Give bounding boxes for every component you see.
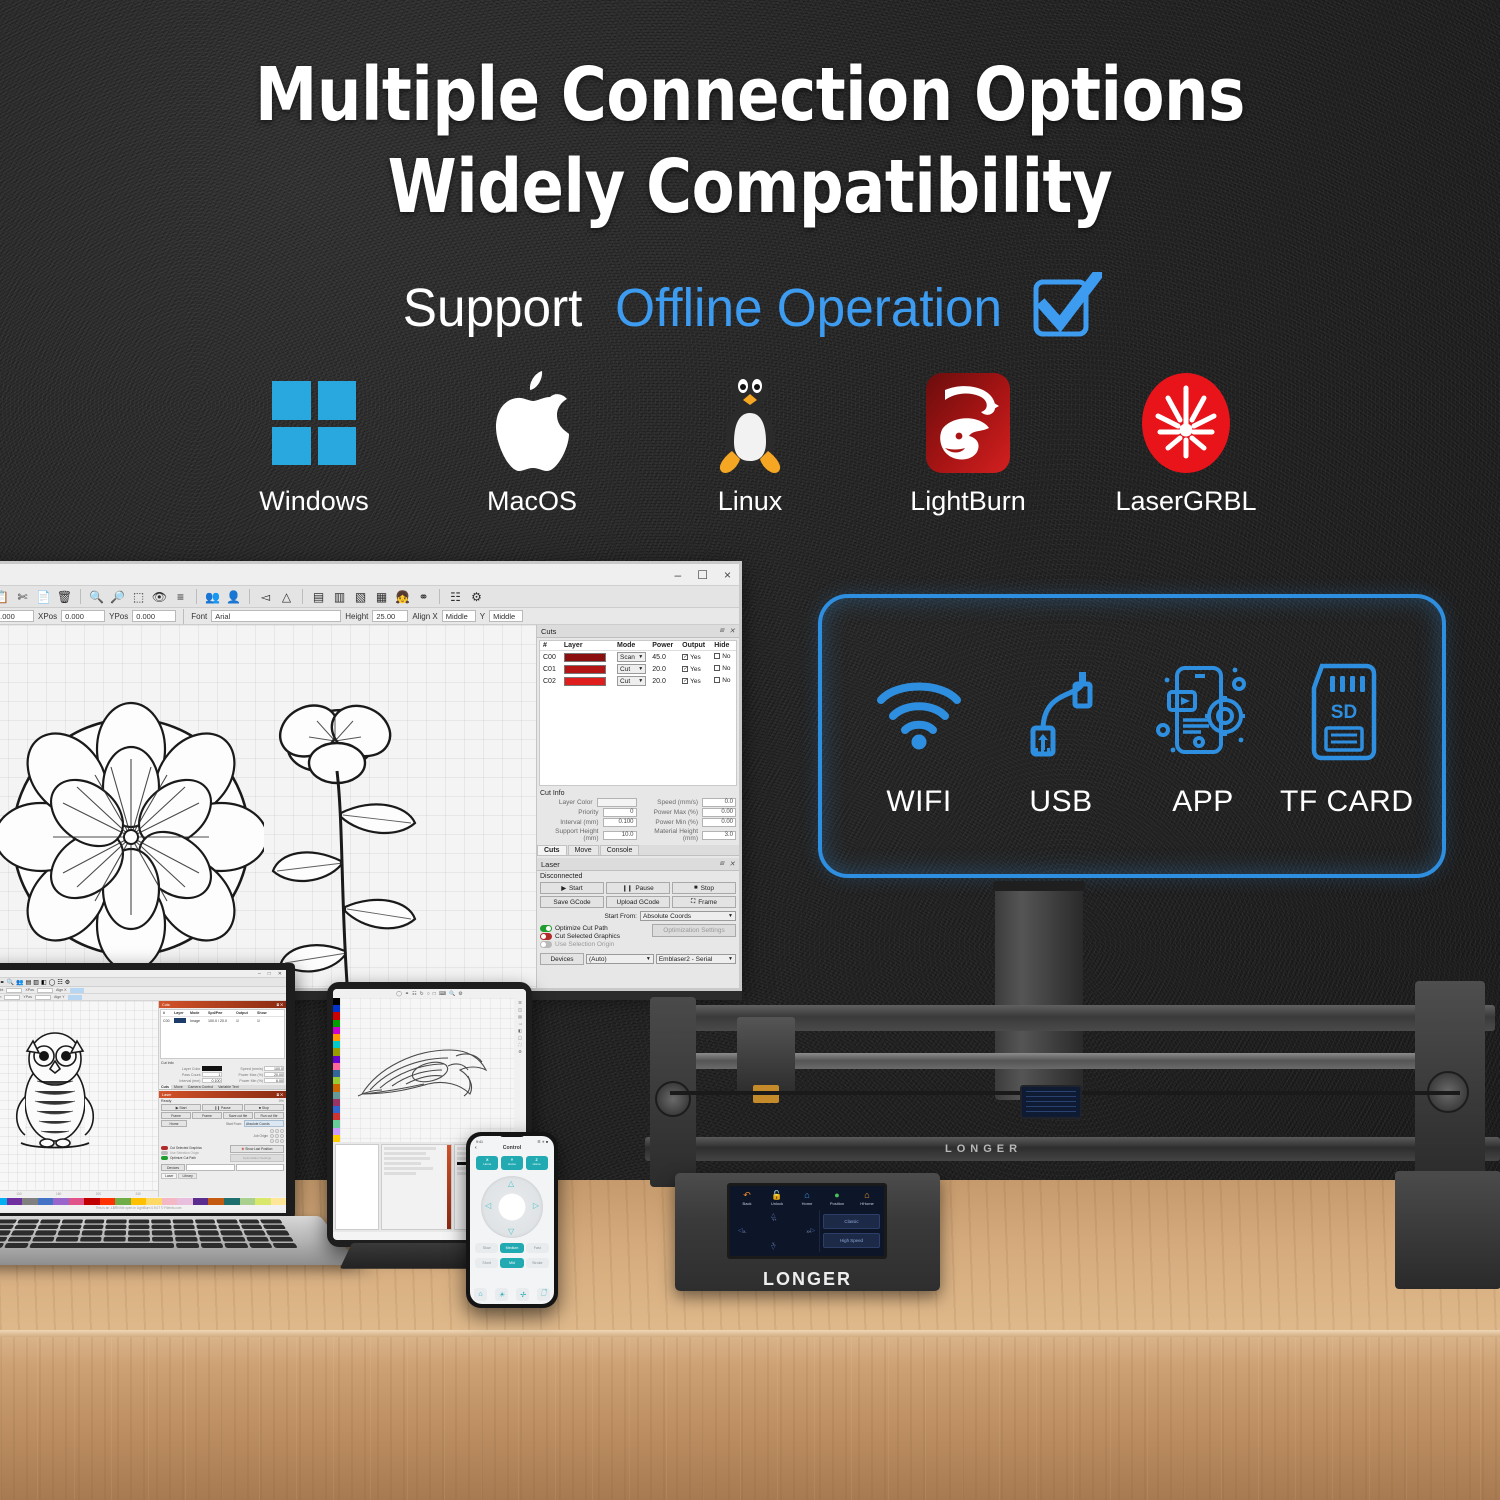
- compat-label-macos: MacOS: [452, 486, 612, 517]
- unlock-icon: 🔓: [763, 1191, 791, 1200]
- node-edit-icon[interactable]: ⚭: [405, 991, 409, 997]
- axis-home-z-button[interactable]: ZHome: [526, 1156, 548, 1170]
- pass-count-input[interactable]: 1: [202, 1072, 222, 1077]
- location-pin-icon: ●: [823, 1191, 851, 1200]
- tablet-cuts-panel[interactable]: [381, 1144, 452, 1230]
- touch-icon-hhome[interactable]: ⌂ HHome: [853, 1191, 881, 1206]
- ci-label: Power Min (%): [640, 819, 699, 826]
- table-row[interactable]: C00 Image 100.0 / 20.0 ☑ ☑: [161, 1017, 284, 1024]
- subheadline-prefix: Support: [403, 277, 583, 339]
- laser-panel-header: Laser ⧈✕: [537, 858, 739, 871]
- square-icon[interactable]: □: [433, 991, 436, 997]
- laptop-bottom-tabs[interactable]: Laser Library: [161, 1173, 284, 1179]
- table-row[interactable]: C02 Cut▼ 20.0 ✓Yes No: [540, 675, 736, 687]
- flip-vertical-icon[interactable]: △: [278, 588, 295, 605]
- ci-label: Layer Color: [540, 799, 593, 806]
- toolbar[interactable]: 📋 ✄ 📄 🗑 🔍 🔎 ⬚ 👁 ≡ 👥 👤 ◅ △ ▤ ▥ ▧ ▦ 👧 ⚭ ☷: [0, 586, 739, 608]
- phone-gear-app-icon: [1138, 653, 1268, 771]
- tab-move[interactable]: Move: [568, 845, 599, 855]
- layer-color-input[interactable]: [202, 1066, 222, 1071]
- laser-status: Disconnected: [540, 873, 736, 880]
- weld-icon[interactable]: ◧: [518, 1028, 522, 1033]
- speed-row[interactable]: Slow Medium Fast: [470, 1243, 554, 1253]
- use-selection-origin-toggle[interactable]: Use Selection Origin: [161, 1151, 228, 1155]
- signal-wifi-battery-icons: ☰ ☀ ■: [537, 1140, 548, 1144]
- laptop-right-dock[interactable]: Cuts ⧈ ✕ # Layer Mode Spd/Pwr Output Sho…: [158, 1001, 286, 1197]
- laptop-design-canvas[interactable]: 100160 200240: [0, 1001, 158, 1197]
- windows-logo-icon: [234, 368, 394, 478]
- xpos-label: XPos: [25, 988, 34, 992]
- list-icon[interactable]: ≡: [172, 588, 189, 605]
- cuts-table[interactable]: # Layer Mode Power Output Hide C00 Scan▼: [540, 641, 736, 687]
- power-min-input[interactable]: 6.00: [264, 1078, 284, 1083]
- close-panel-icon[interactable]: ✕: [729, 627, 735, 635]
- device-select-2[interactable]: [236, 1164, 285, 1171]
- offset-icon[interactable]: ◯: [49, 979, 56, 986]
- select-icon[interactable]: ◯: [396, 991, 402, 997]
- bottom-color-palette[interactable]: [0, 1198, 286, 1205]
- cuts-col-output: Output: [679, 641, 711, 651]
- ci-label: Speed (mm/s): [640, 799, 699, 806]
- speed-medium-button[interactable]: Medium: [500, 1243, 523, 1253]
- priority-input[interactable]: 0: [603, 808, 637, 817]
- mode-select[interactable]: Scan▼: [617, 652, 646, 662]
- paste-icon[interactable]: 📄: [35, 588, 52, 605]
- page-title-line-1: Multiple Connection Options: [45, 52, 1455, 138]
- align-bottom-icon[interactable]: ▦: [373, 588, 390, 605]
- axis-home-y-button[interactable]: YHome: [501, 1156, 523, 1170]
- settings-gear-icon[interactable]: ⚙: [65, 979, 70, 986]
- flip-icon[interactable]: ◅: [518, 1021, 521, 1026]
- ci-label: Material Height (mm): [640, 828, 699, 842]
- save-cut-file-button[interactable]: Save cut file: [223, 1112, 253, 1119]
- tablet-preview-panel[interactable]: [335, 1144, 379, 1230]
- aligny-label: Y: [480, 612, 485, 621]
- brand-logo-longer: LONGER: [675, 1269, 940, 1290]
- design-canvas[interactable]: [0, 625, 536, 988]
- connection-item-tfcard[interactable]: SD TF CARD: [1280, 653, 1410, 819]
- jog-right-label: X+: [807, 1230, 812, 1234]
- width-field[interactable]: 0.000: [0, 610, 34, 622]
- dock-tabs[interactable]: Cuts Move Console: [537, 845, 739, 856]
- axis-home-buttons[interactable]: XHome YHome ZHome: [470, 1156, 554, 1170]
- laptop-laser-panel-header: Laser⧈ ✕: [159, 1091, 286, 1098]
- alignx-label: Align X: [412, 612, 437, 621]
- compat-label-windows: Windows: [234, 486, 394, 517]
- xpos-field[interactable]: 0.000: [61, 610, 105, 622]
- cut-row-id: C01: [540, 663, 561, 675]
- weld-icon[interactable]: 👧: [394, 588, 411, 605]
- ypos-label: YPos: [109, 612, 128, 621]
- touch-icon-home[interactable]: ⌂ Home: [793, 1191, 821, 1206]
- width-label: Wdth: [0, 995, 1, 999]
- undock-icon[interactable]: ⧈: [720, 860, 724, 868]
- lightburn-dragon-logo-icon: [888, 368, 1048, 478]
- duplicate-icon[interactable]: 📋: [0, 588, 10, 605]
- align-top-icon[interactable]: ▧: [352, 588, 369, 605]
- connection-label-tfcard: TF CARD: [1280, 785, 1410, 819]
- zoom-out-icon[interactable]: 🔎: [109, 588, 126, 605]
- cut-selected-graphics-toggle[interactable]: Cut Selected Graphics: [161, 1146, 228, 1150]
- linux-tux-logo-icon: [670, 368, 830, 478]
- laptop-dock-tabs[interactable]: Cuts Move Camera Control Variable Text: [159, 1085, 286, 1090]
- devices-button[interactable]: Devices: [540, 953, 584, 965]
- toolbar-divider: [439, 589, 440, 604]
- cuts-panel-title: Cuts: [541, 627, 556, 636]
- home-icon: ⌂: [793, 1191, 821, 1200]
- flower-artwork-peony: [0, 687, 264, 977]
- ci-label: Priority: [540, 809, 599, 816]
- jog-right-icon[interactable]: ▷: [810, 1227, 815, 1234]
- optimization-settings-button[interactable]: Optimization Settings: [230, 1154, 284, 1162]
- ungroup-icon[interactable]: 👤: [225, 588, 242, 605]
- pause-button[interactable]: ❙❙Pause: [202, 1104, 242, 1111]
- stop-button[interactable]: ■Stop: [244, 1104, 284, 1111]
- flip-horizontal-icon[interactable]: ◅: [257, 588, 274, 605]
- minimize-icon[interactable]: –: [258, 971, 261, 977]
- wifi-icon: [854, 653, 984, 771]
- cut-row-id: C02: [540, 675, 561, 687]
- compat-item-linux: Linux: [670, 368, 830, 517]
- align-right-icon[interactable]: ▥: [33, 979, 39, 986]
- engraver-tower-top: [993, 881, 1085, 891]
- maximize-icon[interactable]: □: [268, 971, 271, 977]
- cut-info-title: Cut Info: [540, 790, 736, 797]
- delete-trash-icon[interactable]: 🗑: [56, 588, 73, 605]
- home-button[interactable]: Home: [161, 1120, 187, 1127]
- rotate-icon[interactable]: ↻: [420, 991, 424, 997]
- engraver-left-pulley: [655, 1081, 691, 1117]
- frame-button[interactable]: Frame: [161, 1112, 191, 1119]
- power-max-input[interactable]: 0.00: [702, 808, 736, 817]
- interval-input[interactable]: 0.100: [603, 818, 637, 827]
- cuts-panel-header: Cuts ⧈✕: [537, 625, 739, 638]
- laptop-screen-lightburn[interactable]: – □ ✕ ▷ ⚭ 🔍 👥 ▤ ▥ ◧ ◯ ☷ ⚙ Height XPos: [0, 970, 286, 1213]
- frame-round-button[interactable]: Frame: [192, 1112, 222, 1119]
- maximize-icon[interactable]: ☐: [697, 569, 708, 581]
- engraver-right-foot: [1395, 1171, 1500, 1289]
- tab-library[interactable]: Library: [178, 1173, 196, 1179]
- touch-icon-back[interactable]: ↶ Back: [733, 1191, 761, 1206]
- ci-label: Interval (mm): [540, 819, 599, 826]
- sd-card-icon: SD: [1280, 653, 1410, 771]
- step-short-button[interactable]: Short: [475, 1258, 498, 1268]
- height-field[interactable]: 25.00: [372, 610, 408, 622]
- laser-panel-title: Laser: [541, 860, 560, 869]
- subheadline: Support Offline Operation: [0, 272, 1500, 344]
- connection-label-wifi: WIFI: [854, 785, 984, 819]
- connection-options-panel: WIFI USB: [818, 594, 1446, 878]
- step-mid-button[interactable]: Mid: [500, 1258, 523, 1268]
- start-button[interactable]: ▶Start: [161, 1104, 201, 1111]
- connection-item-app[interactable]: APP: [1138, 653, 1268, 819]
- phone-bottom-nav[interactable]: ⌂ ☀ ✢ 🗋: [470, 1288, 554, 1301]
- connection-item-usb[interactable]: USB: [996, 653, 1126, 819]
- compat-item-lightburn: LightBurn: [888, 368, 1048, 517]
- touchscreen-jog-pad[interactable]: △ Y+ ▽ Y- ◁ X- ▷ X+: [734, 1210, 820, 1252]
- hide-checkbox[interactable]: No: [714, 677, 730, 684]
- layer-color-swatch[interactable]: [564, 677, 606, 686]
- laser-status: Ready: [161, 1099, 171, 1103]
- down-triangle-icon[interactable]: ▽: [508, 1228, 514, 1236]
- hide-checkbox[interactable]: No: [714, 665, 730, 672]
- right-triangle-icon[interactable]: ▷: [533, 1202, 539, 1210]
- tab-variable-text[interactable]: Variable Text: [216, 1085, 240, 1089]
- xpos-label: XPos: [38, 612, 57, 621]
- tab-camera-control[interactable]: Camera Control: [186, 1085, 215, 1089]
- laptop-property-bar-1[interactable]: Height XPos Algn X: [0, 987, 286, 994]
- back-arrow-icon: ↶: [733, 1191, 761, 1200]
- phone-notch: [499, 1133, 525, 1137]
- compat-label-lasergrbl: LaserGRBL: [1106, 486, 1266, 517]
- device-select-1[interactable]: [186, 1164, 235, 1171]
- usb-cable-icon: [996, 653, 1126, 771]
- cut-row-power: 45.0: [649, 651, 679, 664]
- zoom-in-icon[interactable]: 🔍: [88, 588, 105, 605]
- output-checkbox[interactable]: ✓Yes: [682, 654, 701, 661]
- cuts-col-power: Power: [649, 641, 679, 651]
- align-left-icon[interactable]: ▤: [26, 979, 32, 986]
- connection-label-usb: USB: [996, 785, 1126, 819]
- engraver-touchscreen[interactable]: ↶ Back 🔓 Unlock ⌂ Home ● Position: [727, 1183, 887, 1259]
- tab-console[interactable]: Console: [600, 845, 640, 855]
- layer-color-swatch[interactable]: [564, 665, 606, 674]
- close-panel-icon[interactable]: ✕: [729, 860, 735, 868]
- speed-input[interactable]: 0.0: [702, 798, 736, 807]
- ci-label: Power Max (%): [640, 809, 699, 816]
- text-icon[interactable]: ⌨: [439, 991, 446, 997]
- mode-select[interactable]: Cut▼: [617, 664, 646, 674]
- touchscreen-top-icons[interactable]: ↶ Back 🔓 Unlock ⌂ Home ● Position: [730, 1186, 884, 1208]
- cut-info-section: Cut Info Layer Color Priority0 Interval …: [537, 788, 739, 845]
- home-icon[interactable]: ⌂: [474, 1288, 487, 1301]
- output-checkbox[interactable]: ✓Yes: [682, 678, 701, 685]
- phone-app-title: ‹ Control: [470, 1145, 554, 1151]
- layers-icon[interactable]: ☰: [518, 1000, 522, 1005]
- run-cut-file-button[interactable]: Run cut file: [254, 1112, 284, 1119]
- node-edit-icon[interactable]: ⚭: [0, 979, 5, 986]
- tablet-toolbar[interactable]: ◯ ⚭ ☷ ↻ ○ □ ⌨ 🔍 ⚙: [333, 989, 526, 998]
- jog-left-label: X-: [743, 1230, 747, 1234]
- speed-slow-button[interactable]: Slow: [475, 1243, 498, 1253]
- layer-color-input[interactable]: [597, 798, 637, 807]
- align-right-icon[interactable]: ▥: [331, 588, 348, 605]
- page-title-line-2: Widely Compatibility: [45, 144, 1455, 230]
- speed-input[interactable]: 100.0: [264, 1066, 284, 1071]
- engraver-mini-display: [1020, 1085, 1082, 1119]
- close-icon[interactable]: ×: [724, 569, 731, 581]
- property-divider: [183, 609, 184, 624]
- settings-gear-icon[interactable]: ⚙: [468, 588, 485, 605]
- cuts-col-layer: Layer: [561, 641, 614, 651]
- connection-item-wifi[interactable]: WIFI: [854, 653, 984, 819]
- group-icon[interactable]: 👥: [204, 588, 221, 605]
- ypos-field[interactable]: 0.000: [132, 610, 176, 622]
- cut-row-id: C00: [540, 651, 561, 664]
- settings-gear-icon[interactable]: ⚙: [458, 991, 462, 997]
- checkbox-checked-icon: [1030, 272, 1102, 344]
- hide-checkbox[interactable]: No: [714, 653, 730, 660]
- laser-progress: 0%: [279, 1099, 284, 1103]
- alignx-label: Algn X: [56, 988, 67, 992]
- grid-icon[interactable]: ☷: [447, 588, 464, 605]
- layer-color-swatch[interactable]: [564, 653, 606, 662]
- align-left-icon[interactable]: ▤: [310, 588, 327, 605]
- group-icon[interactable]: 👥: [16, 979, 23, 986]
- laptop-cuts-table[interactable]: # Layer Mode Spd/Pwr Output Show C00 Ima…: [160, 1009, 285, 1059]
- flower-artwork-poppy-stem: [257, 693, 442, 988]
- up-triangle-icon[interactable]: △: [508, 1180, 514, 1188]
- power-max-input[interactable]: 20.00: [264, 1072, 284, 1077]
- engraver-rail-front: [645, 1137, 1500, 1161]
- optimize-cut-path-toggle[interactable]: Optimize Cut Path: [161, 1156, 228, 1160]
- output-checkbox[interactable]: ✓Yes: [682, 666, 701, 673]
- phone-screen-app[interactable]: 9:41 ☰ ☀ ■ ‹ Control XHome YHome ZHome △: [470, 1136, 554, 1304]
- zoom-icon[interactable]: 🔍: [449, 991, 455, 997]
- cuts-col-num: #: [540, 641, 561, 651]
- power-min-input[interactable]: 0.00: [702, 818, 736, 827]
- cut-row-power: 20.0: [649, 675, 679, 687]
- height-label: Height: [0, 988, 3, 992]
- compat-label-linux: Linux: [670, 486, 830, 517]
- aligny-label: Algn Y: [54, 995, 65, 999]
- status-time: 9:41: [476, 1140, 483, 1144]
- zoom-selection-icon[interactable]: ⬚: [130, 588, 147, 605]
- alignx-select[interactable]: Middle: [442, 610, 476, 622]
- laptop-cuts-panel-header: Cuts ⧈ ✕: [159, 1001, 286, 1008]
- sd-card-face-text: SD: [1331, 702, 1357, 723]
- grid-icon[interactable]: ☷: [412, 991, 416, 997]
- group-icon[interactable]: ◫: [518, 1007, 522, 1012]
- left-triangle-icon[interactable]: ◁: [485, 1202, 491, 1210]
- tab-move[interactable]: Move: [172, 1085, 185, 1089]
- back-chevron-icon[interactable]: ‹: [475, 1145, 477, 1151]
- weld-icon[interactable]: ◧: [41, 979, 47, 986]
- touch-icon-position[interactable]: ● Position: [823, 1191, 851, 1206]
- jog-down-label: Y-: [772, 1242, 775, 1246]
- tab-cuts[interactable]: Cuts: [159, 1085, 171, 1089]
- interval-input[interactable]: 0.100: [202, 1078, 222, 1083]
- toolbar-divider: [302, 589, 303, 604]
- tab-cuts[interactable]: Cuts: [537, 845, 567, 855]
- align-icon[interactable]: ▤: [518, 1014, 522, 1019]
- start-from-label: Start From:: [226, 1122, 242, 1126]
- layer-color-swatch[interactable]: [174, 1018, 186, 1023]
- font-select[interactable]: Arial: [211, 610, 341, 622]
- speed-fast-button[interactable]: Fast: [526, 1243, 549, 1253]
- house-home-icon: ⌂: [853, 1191, 881, 1200]
- cut-scissors-icon[interactable]: ✄: [14, 588, 31, 605]
- font-label: Font: [191, 612, 207, 621]
- classic-mode-button[interactable]: Classic: [823, 1214, 880, 1229]
- axis-home-x-button[interactable]: XHome: [476, 1156, 498, 1170]
- compat-label-lightburn: LightBurn: [888, 486, 1048, 517]
- laptop-keyboard-base: [0, 1216, 360, 1265]
- file-icon[interactable]: 🗋: [537, 1288, 550, 1301]
- poster-canvas: Multiple Connection Options Widely Compa…: [0, 0, 1500, 1500]
- desk-front: [0, 1337, 1500, 1500]
- aligny-select[interactable]: Middle: [489, 610, 523, 622]
- table-row[interactable]: C01 Cut▼ 20.0 ✓Yes No: [540, 663, 736, 675]
- undock-icon[interactable]: ⧈: [720, 627, 724, 635]
- owl-artwork: [7, 1023, 103, 1151]
- step-row[interactable]: Short Mid Stroke: [470, 1258, 554, 1268]
- start-from-select[interactable]: Absolute Coords: [244, 1120, 284, 1127]
- measure-icon[interactable]: ⛶: [519, 1042, 522, 1047]
- property-toolbar[interactable]: 0.000 XPos 0.000 YPos 0.000 Font Arial H…: [0, 608, 739, 625]
- apple-logo-icon: [452, 368, 612, 478]
- cut-row-power: 20.0: [649, 663, 679, 675]
- compat-item-macos: MacOS: [452, 368, 612, 517]
- height-label: Height: [345, 612, 368, 621]
- window-titlebar: – ☐ ×: [0, 564, 739, 586]
- tablet-color-palette[interactable]: [333, 998, 340, 1142]
- cuts-col-mode: Mode: [614, 641, 649, 651]
- close-icon[interactable]: ✕: [278, 971, 282, 977]
- laptop-toolbar[interactable]: ▷ ⚭ 🔍 👥 ▤ ▥ ◧ ◯ ☷ ⚙: [0, 978, 286, 987]
- laptop-property-bar-2[interactable]: Wdth YPos Algn Y: [0, 994, 286, 1001]
- job-origin-grid[interactable]: [270, 1129, 284, 1143]
- tablet-right-toolbar[interactable]: ☰ ◫ ▤ ◅ ◧ ◯ ⛶ ⚙: [514, 998, 526, 1142]
- jog-left-icon[interactable]: ◁: [738, 1227, 743, 1234]
- mode-select[interactable]: Cut▼: [617, 676, 646, 686]
- toolbar-divider: [249, 589, 250, 604]
- zoom-icon[interactable]: 🔍: [7, 979, 14, 986]
- engraver-control-box[interactable]: ↶ Back 🔓 Unlock ⌂ Home ● Position: [675, 1173, 940, 1291]
- laptop-device[interactable]: – □ ✕ ▷ ⚭ 🔍 👥 ▤ ▥ ◧ ◯ ☷ ⚙ Height XPos: [0, 963, 295, 1218]
- show-last-position-button[interactable]: ✚Show Last Position: [230, 1145, 284, 1153]
- phone-device[interactable]: 9:41 ☰ ☀ ■ ‹ Control XHome YHome ZHome △: [466, 1132, 558, 1308]
- support-height-input[interactable]: 10.0: [603, 831, 637, 840]
- minimize-icon[interactable]: –: [675, 569, 682, 581]
- engraver-laser-head: [737, 1017, 795, 1095]
- light-bulb-icon[interactable]: ☀: [495, 1288, 508, 1301]
- compat-item-lasergrbl: LaserGRBL: [1106, 368, 1266, 517]
- tab-laser[interactable]: Laser: [161, 1173, 177, 1179]
- keyboard-keys[interactable]: [0, 1219, 298, 1248]
- rail-brand-longer: LONGER: [945, 1143, 1022, 1155]
- canvas-ruler: 100160 200240: [0, 1190, 158, 1197]
- high-speed-mode-button[interactable]: High Speed: [823, 1233, 880, 1248]
- jog-up-label: Y+: [772, 1218, 777, 1222]
- cuts-table-wrap[interactable]: # Layer Mode Power Output Hide C00 Scan▼: [539, 640, 737, 786]
- table-row[interactable]: C00 Scan▼ 45.0 ✓Yes No: [540, 651, 736, 664]
- job-origin-label: Job Origin: [253, 1134, 268, 1138]
- cuts-col-hide: Hide: [711, 641, 736, 651]
- offset-icon[interactable]: ◯: [518, 1035, 522, 1040]
- node-edit-icon[interactable]: ⚭: [415, 588, 432, 605]
- laptop-laser-panel[interactable]: Ready 0% ▶Start ❙❙Pause ■Stop Frame Fram…: [159, 1098, 286, 1180]
- circle-icon[interactable]: ○: [427, 991, 430, 997]
- step-stroke-button[interactable]: Stroke: [526, 1258, 549, 1268]
- grid-icon[interactable]: ☷: [57, 979, 62, 986]
- move-icon[interactable]: ✢: [516, 1288, 529, 1301]
- compat-item-windows: Windows: [234, 368, 394, 517]
- laser-engraver-machine: ↶ Back 🔓 Unlock ⌂ Home ● Position: [595, 885, 1500, 1305]
- jog-dpad[interactable]: △ ▽ ◁ ▷: [481, 1176, 543, 1238]
- devices-button[interactable]: Devices: [161, 1164, 185, 1171]
- touch-icon-unlock[interactable]: 🔓 Unlock: [763, 1191, 791, 1206]
- settings-gear-icon[interactable]: ⚙: [518, 1049, 522, 1054]
- compatibility-logo-row: Windows MacOS: [0, 368, 1500, 517]
- toolbar-divider: [80, 589, 81, 604]
- subheadline-highlight: Offline Operation: [615, 277, 1002, 339]
- laptop-status-text: This is an .LBRN file open in LightBurn …: [0, 1205, 286, 1210]
- preview-eye-icon[interactable]: 👁: [151, 588, 168, 605]
- material-height-input[interactable]: 3.0: [702, 831, 736, 840]
- tablet-design-canvas[interactable]: [340, 998, 514, 1142]
- connection-label-app: APP: [1138, 785, 1268, 819]
